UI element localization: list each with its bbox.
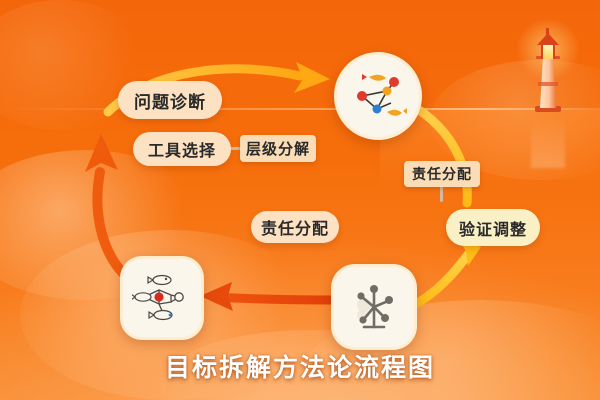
label-layer-decomposition[interactable]: 层级分解 [240,135,316,162]
page-title: 目标拆解方法论流程图 [0,348,600,384]
node-top-network[interactable] [334,52,422,140]
label-tool-selection[interactable]: 工具选择 [133,132,231,166]
label-responsibility-right[interactable]: 责任分配 [404,161,480,187]
label-problem-diagnosis[interactable]: 问题诊断 [118,81,222,119]
infographic-canvas: 问题诊断 工具选择 层级分解 责任分配 责任分配 验证调整 目标拆解方法论流程图 [0,0,600,400]
hierarchy-tree-icon [344,277,404,337]
connector-stem [440,186,443,202]
label-responsibility-center[interactable]: 责任分配 [251,211,339,243]
label-verify-adjust[interactable]: 验证调整 [446,209,540,246]
node-bottom-left-fish-network[interactable] [120,256,204,340]
network-graph-icon [347,65,409,127]
node-bottom-right-hierarchy[interactable] [331,264,417,350]
flow-arrows [0,0,600,400]
fish-network-icon [132,268,192,328]
